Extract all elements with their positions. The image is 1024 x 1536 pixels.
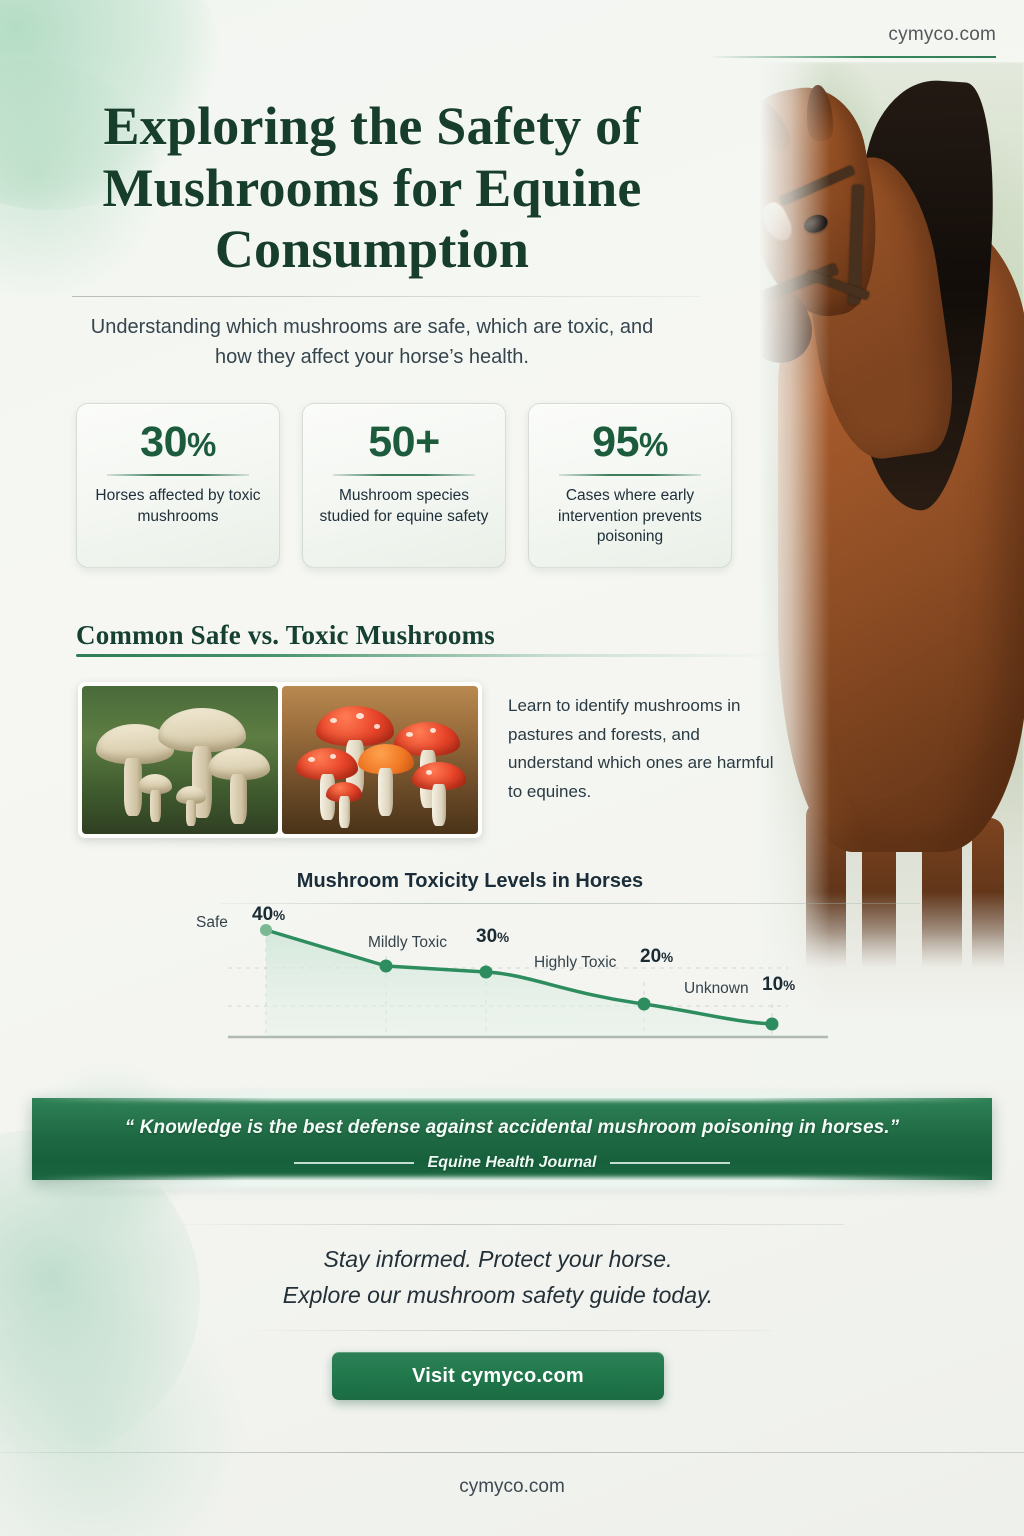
- page-subtitle: Understanding which mushrooms are safe, …: [72, 312, 672, 372]
- quote-attribution: Equine Health Journal: [428, 1154, 597, 1172]
- chart-point-mildly-toxic-b: [480, 966, 493, 979]
- cta-divider-top: [180, 1224, 844, 1225]
- footer-domain-label: cymyco.com: [0, 1476, 1024, 1498]
- stat-card: 30% Horses affected by toxic mushrooms: [76, 403, 280, 568]
- footer-divider: [0, 1452, 1024, 1453]
- chart-label-unknown: Unknown: [684, 980, 749, 998]
- toxicity-line-chart: Safe Mildly Toxic Highly Toxic Unknown 4…: [228, 908, 828, 1054]
- top-divider: [708, 56, 996, 58]
- safe-mushroom-photo: [82, 686, 278, 834]
- chart-label-mildly-toxic: Mildly Toxic: [368, 934, 447, 952]
- quote-banner: “ Knowledge is the best defense against …: [32, 1098, 992, 1180]
- attribution-rule-left: [294, 1162, 414, 1164]
- decorative-blob-bottom-left-2: [0, 1290, 250, 1536]
- chart-top-divider: [220, 903, 920, 904]
- mushroom-photo-pair: [78, 682, 482, 838]
- stat-label: Mushroom species studied for equine safe…: [315, 486, 493, 527]
- stat-value: 95%: [541, 420, 719, 465]
- cta-divider-bottom: [252, 1330, 772, 1331]
- toxic-mushroom-photo: [282, 686, 478, 834]
- page-title: Exploring the Safety of Mushrooms for Eq…: [72, 96, 672, 281]
- cta-line-2: Explore our mushroom safety guide today.: [0, 1278, 996, 1314]
- chart-label-highly-toxic: Highly Toxic: [534, 954, 616, 972]
- cta-line-1: Stay informed. Protect your horse.: [0, 1242, 996, 1278]
- infographic-page: cymyco.com Exploring the Safety of Mushr…: [0, 0, 1024, 1536]
- stat-card: 95% Cases where early intervention preve…: [528, 403, 732, 568]
- stat-card: 50+ Mushroom species studied for equine …: [302, 403, 506, 568]
- chart-point-mildly-toxic-a: [380, 960, 393, 973]
- section-heading-comparison: Common Safe vs. Toxic Mushrooms: [76, 620, 495, 651]
- chart-value-mildly-toxic: 30%: [476, 926, 509, 948]
- comparison-body-text: Learn to identify mushrooms in pastures …: [508, 692, 780, 806]
- stat-value: 30%: [89, 420, 267, 465]
- chart-value-highly-toxic: 20%: [640, 946, 673, 968]
- stat-underline: [107, 474, 249, 476]
- quote-text: “ Knowledge is the best defense against …: [32, 1117, 992, 1139]
- title-divider: [72, 296, 700, 297]
- chart-point-highly-toxic: [638, 998, 651, 1011]
- section-heading-underline: [76, 654, 776, 657]
- chart-value-safe: 40%: [252, 904, 285, 926]
- stat-value: 50+: [315, 420, 493, 465]
- chart-value-unknown: 10%: [762, 974, 795, 996]
- cta-text: Stay informed. Protect your horse. Explo…: [0, 1242, 996, 1313]
- stat-underline: [333, 474, 475, 476]
- chart-title: Mushroom Toxicity Levels in Horses: [0, 870, 940, 893]
- stat-card-group: 30% Horses affected by toxic mushrooms 5…: [76, 403, 732, 568]
- quote-attribution-row: Equine Health Journal: [32, 1154, 992, 1172]
- stat-label: Cases where early intervention prevents …: [541, 486, 719, 548]
- visit-site-button[interactable]: Visit cymyco.com: [332, 1352, 664, 1400]
- attribution-rule-right: [610, 1162, 730, 1164]
- stat-label: Horses affected by toxic mushrooms: [89, 486, 267, 527]
- chart-label-safe: Safe: [196, 914, 228, 932]
- top-domain-label: cymyco.com: [888, 24, 996, 46]
- chart-point-unknown: [766, 1018, 779, 1031]
- stat-underline: [559, 474, 701, 476]
